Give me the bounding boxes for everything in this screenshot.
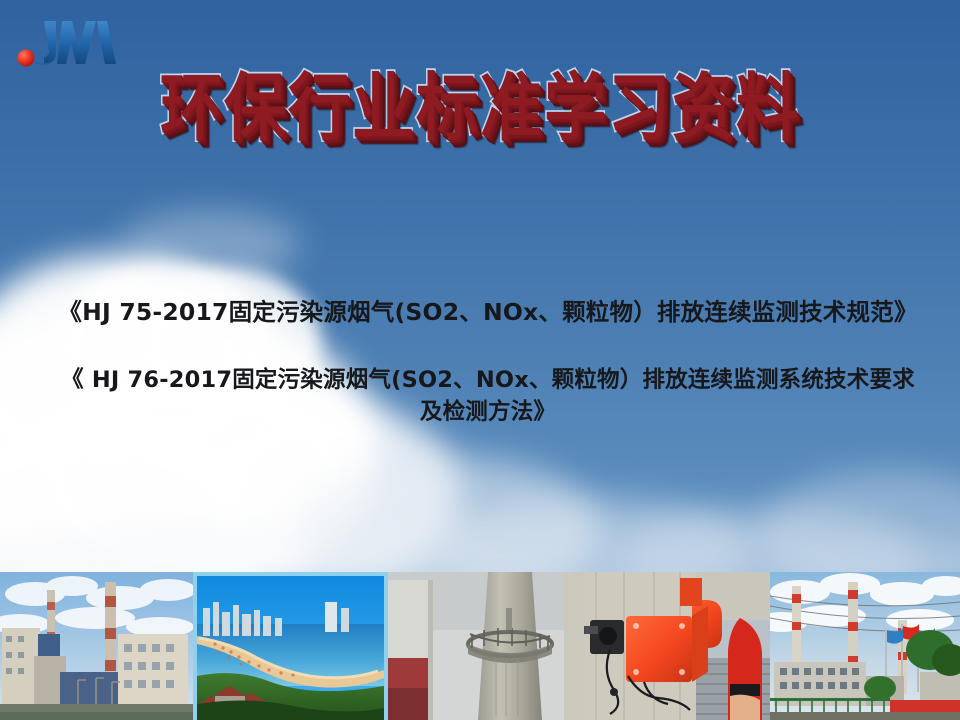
- photo-chimney-stack-monitoring-platform: [388, 572, 584, 720]
- photo-orange-cems-sampling-equipment: [584, 572, 770, 720]
- standard-reference-hj76: 《 HJ 76-2017固定污染源烟气(SO2、NOx、颗粒物）排放连续监测系统…: [56, 364, 920, 429]
- company-logo: [14, 16, 122, 72]
- standard-reference-hj75: 《HJ 75-2017固定污染源烟气(SO2、NOx、颗粒物）排放连续监测技术规…: [56, 296, 920, 330]
- presentation-slide: 环保行业标准学习资料 《HJ 75-2017固定污染源烟气(SO2、NOx、颗粒…: [0, 0, 960, 720]
- logo-red-dot: [18, 50, 35, 67]
- photo-coastal-bay-city-aerial: [193, 572, 388, 720]
- photo-power-plant-striped-stacks-flags: [770, 572, 960, 720]
- photo-strip: [0, 572, 960, 720]
- slide-body: 《HJ 75-2017固定污染源烟气(SO2、NOx、颗粒物）排放连续监测技术规…: [56, 296, 920, 429]
- photo-power-plant-with-smokestacks: [0, 572, 193, 720]
